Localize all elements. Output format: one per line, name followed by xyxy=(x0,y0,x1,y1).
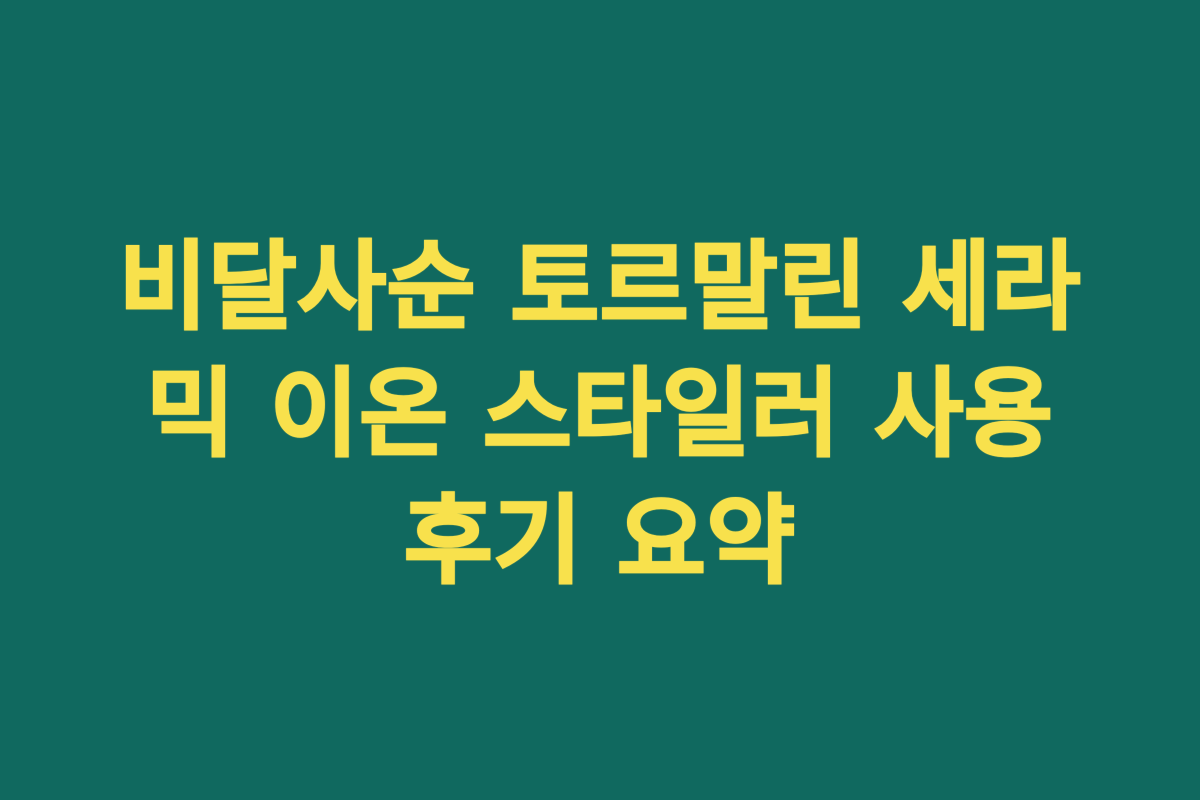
title-banner-card: 비달사순 토르말린 세라 믹 이온 스타일러 사용 후기 요약 xyxy=(0,0,1200,800)
title-line-1: 비달사순 토르말린 세라 xyxy=(119,224,1081,351)
title-line-2: 믹 이온 스타일러 사용 xyxy=(146,351,1053,478)
title-line-3: 후기 요약 xyxy=(404,478,796,605)
page-title: 비달사순 토르말린 세라 믹 이온 스타일러 사용 후기 요약 xyxy=(60,224,1140,605)
